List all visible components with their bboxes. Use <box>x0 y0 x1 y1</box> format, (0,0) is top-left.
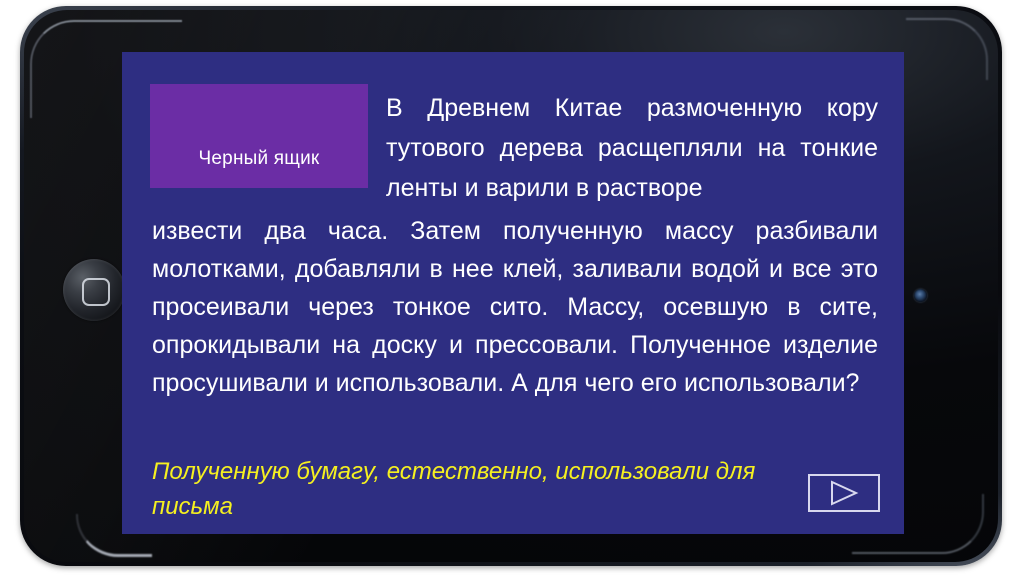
play-triangle-icon <box>829 480 859 506</box>
black-box-label: Черный ящик <box>150 148 368 170</box>
tablet-screen-bezel: Черный ящик В Древнем Китае размоченную … <box>24 10 998 562</box>
main-paragraph: извести два часа. Затем полученную массу… <box>152 212 878 402</box>
intro-paragraph: В Древнем Китае размоченную кору тутовог… <box>386 88 878 208</box>
front-camera-icon <box>914 289 927 302</box>
presentation-slide: Черный ящик В Древнем Китае размоченную … <box>122 52 904 534</box>
home-button[interactable] <box>63 259 125 321</box>
screenshot-stage: Черный ящик В Древнем Китае размоченную … <box>0 0 1024 576</box>
slide-content: Черный ящик В Древнем Китае размоченную … <box>122 52 904 534</box>
play-next-button[interactable] <box>808 474 880 512</box>
answer-paragraph: Полученную бумагу, естественно, использо… <box>152 454 842 524</box>
tablet-device: Черный ящик В Древнем Китае размоченную … <box>20 6 1002 566</box>
black-box-badge: Черный ящик <box>150 84 368 188</box>
home-square-icon <box>82 278 110 306</box>
bezel-highlight-top-right <box>906 18 988 80</box>
